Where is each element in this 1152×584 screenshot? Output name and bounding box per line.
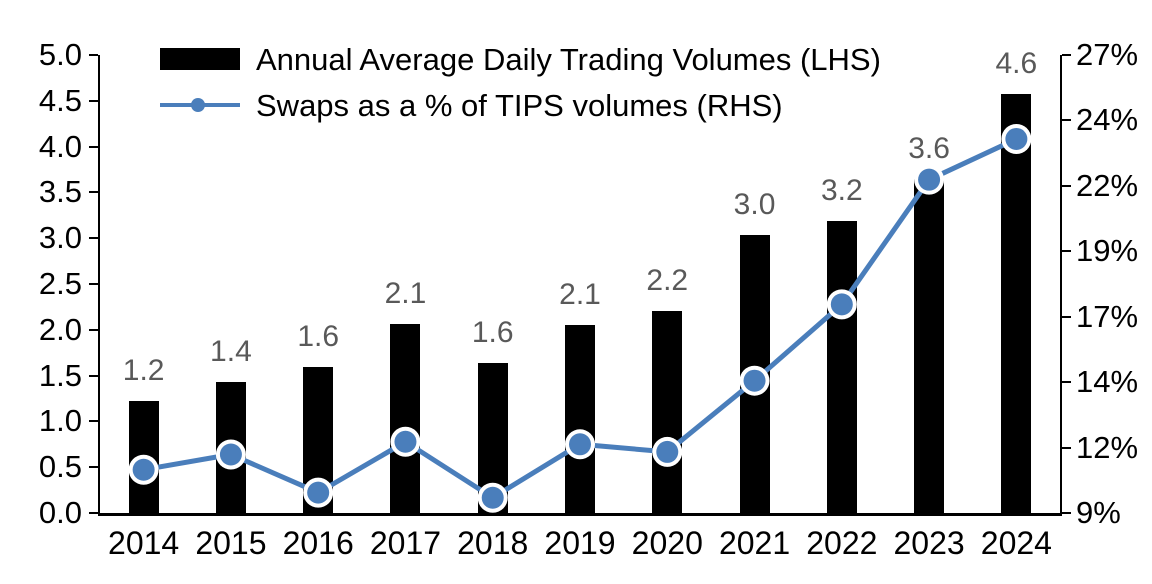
left-axis-tick-label: 0.5 xyxy=(2,451,82,482)
left-axis-tick xyxy=(89,100,98,102)
right-axis-line xyxy=(1060,55,1062,514)
right-axis-tick-label: 27% xyxy=(1076,39,1152,70)
left-axis-tick xyxy=(89,329,98,331)
right-axis-tick-label: 19% xyxy=(1076,235,1152,266)
bar-label-2021: 3.0 xyxy=(705,190,805,220)
marker-2021 xyxy=(744,370,766,392)
bar-label-2018: 1.6 xyxy=(443,318,543,348)
x-axis-line xyxy=(98,513,1062,516)
marker-2014 xyxy=(133,459,155,481)
left-axis-tick-label: 4.0 xyxy=(2,131,82,162)
bar-label-2014: 1.2 xyxy=(94,356,194,386)
left-axis-tick-label: 1.0 xyxy=(2,405,82,436)
legend-line-swatch-icon xyxy=(160,94,240,116)
right-axis-tick-label: 24% xyxy=(1076,104,1152,135)
bar-label-2020: 2.2 xyxy=(617,266,717,296)
marker-2019 xyxy=(569,433,591,455)
marker-2018 xyxy=(482,487,504,509)
right-axis-tick xyxy=(1062,316,1071,318)
left-axis-tick xyxy=(89,146,98,148)
legend-item-line: Swaps as a % of TIPS volumes (RHS) xyxy=(160,84,881,126)
bar-label-2015: 1.4 xyxy=(181,337,281,367)
legend-label-bars: Annual Average Daily Trading Volumes (LH… xyxy=(256,44,881,75)
left-axis-tick xyxy=(89,512,98,514)
right-axis-tick-label: 12% xyxy=(1076,432,1152,463)
right-axis-tick xyxy=(1062,381,1071,383)
bar-label-2019: 2.1 xyxy=(530,280,630,310)
marker-2022 xyxy=(831,293,853,315)
right-axis-tick xyxy=(1062,250,1071,252)
left-axis-tick-label: 2.0 xyxy=(2,314,82,345)
bar-label-2022: 3.2 xyxy=(792,176,892,206)
left-axis-tick-label: 3.0 xyxy=(2,222,82,253)
bar-label-2024: 4.6 xyxy=(966,49,1066,79)
legend-item-bars: Annual Average Daily Trading Volumes (LH… xyxy=(160,38,881,80)
left-axis-tick xyxy=(89,466,98,468)
marker-2020 xyxy=(656,441,678,463)
marker-2024 xyxy=(1005,128,1027,150)
x-axis-label-2024: 2024 xyxy=(956,527,1076,559)
left-axis-tick xyxy=(89,54,98,56)
left-axis-tick-label: 1.5 xyxy=(2,360,82,391)
bar-label-2016: 1.6 xyxy=(268,322,368,352)
marker-2023 xyxy=(918,169,940,191)
right-axis-tick-label: 17% xyxy=(1076,301,1152,332)
right-axis-tick-label: 14% xyxy=(1076,366,1152,397)
left-axis-tick-label: 5.0 xyxy=(2,39,82,70)
right-axis-tick-label: 9% xyxy=(1076,497,1152,528)
right-axis-tick xyxy=(1062,119,1071,121)
swaps-percent-markers xyxy=(129,124,1032,513)
left-axis-tick-label: 3.5 xyxy=(2,176,82,207)
right-axis-tick xyxy=(1062,185,1071,187)
right-axis-tick xyxy=(1062,447,1071,449)
left-axis-tick xyxy=(89,283,98,285)
left-axis-tick xyxy=(89,191,98,193)
bar-label-2023: 3.6 xyxy=(879,134,979,164)
left-axis-tick xyxy=(89,420,98,422)
left-axis-tick xyxy=(89,237,98,239)
right-axis-tick xyxy=(1062,512,1071,514)
left-axis-tick-label: 0.0 xyxy=(2,497,82,528)
chart-legend: Annual Average Daily Trading Volumes (LH… xyxy=(160,38,881,130)
right-axis-tick-label: 22% xyxy=(1076,170,1152,201)
marker-2015 xyxy=(220,443,242,465)
legend-bar-swatch-icon xyxy=(160,48,240,70)
left-axis-tick-label: 4.5 xyxy=(2,85,82,116)
marker-2016 xyxy=(307,482,329,504)
left-axis-tick-label: 2.5 xyxy=(2,268,82,299)
legend-label-line: Swaps as a % of TIPS volumes (RHS) xyxy=(256,90,783,121)
marker-2017 xyxy=(394,431,416,453)
chart-canvas: 0.00.51.01.52.02.53.03.54.04.55.0 9%12%1… xyxy=(0,0,1152,584)
bar-label-2017: 2.1 xyxy=(355,279,455,309)
